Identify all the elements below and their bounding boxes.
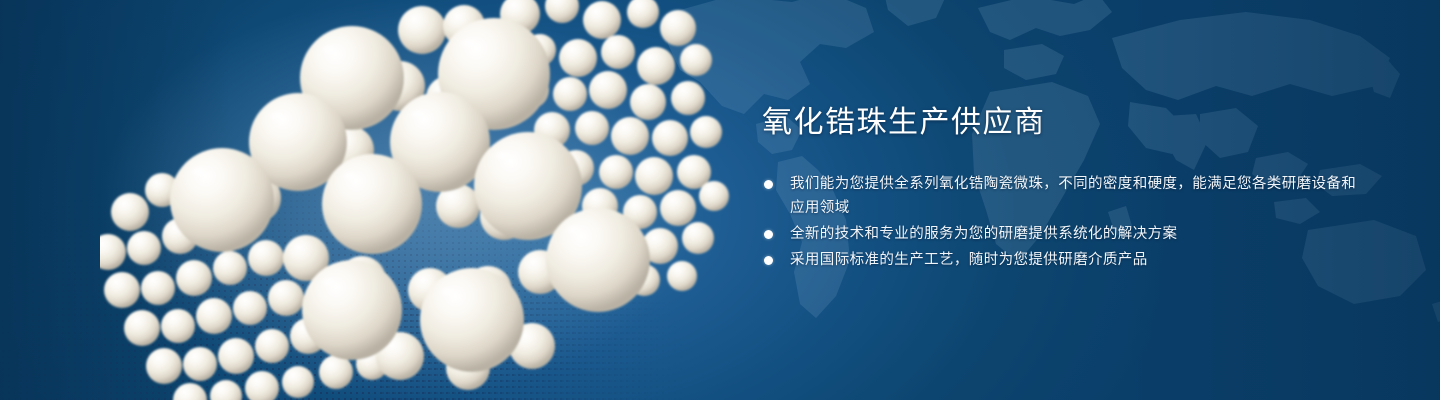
banner-bullet-item: 我们能为您提供全系列氧化锆陶瓷微珠，不同的密度和硬度，能满足您各类研磨设备和应用… [762, 172, 1362, 220]
banner-bullet-item: 全新的技术和专业的服务为您的研磨提供系统化的解决方案 [762, 222, 1362, 246]
banner-bullet-list: 我们能为您提供全系列氧化锆陶瓷微珠，不同的密度和硬度，能满足您各类研磨设备和应用… [762, 172, 1362, 272]
bullet-dot-icon [764, 256, 773, 265]
banner-bullet-item: 采用国际标准的生产工艺，随时为您提供研磨介质产品 [762, 248, 1362, 272]
banner-bullet-text: 采用国际标准的生产工艺，随时为您提供研磨介质产品 [790, 248, 1362, 272]
promo-banner: 氧化锆珠生产供应商 我们能为您提供全系列氧化锆陶瓷微珠，不同的密度和硬度，能满足… [0, 0, 1440, 400]
bullet-dot-icon [764, 180, 773, 189]
banner-copy: 氧化锆珠生产供应商 我们能为您提供全系列氧化锆陶瓷微珠，不同的密度和硬度，能满足… [762, 104, 1362, 274]
banner-headline: 氧化锆珠生产供应商 [762, 104, 1362, 142]
banner-bullet-text: 全新的技术和专业的服务为您的研磨提供系统化的解决方案 [790, 222, 1362, 246]
bullet-dot-icon [764, 230, 773, 239]
banner-bullet-text: 我们能为您提供全系列氧化锆陶瓷微珠，不同的密度和硬度，能满足您各类研磨设备和应用… [790, 172, 1362, 220]
